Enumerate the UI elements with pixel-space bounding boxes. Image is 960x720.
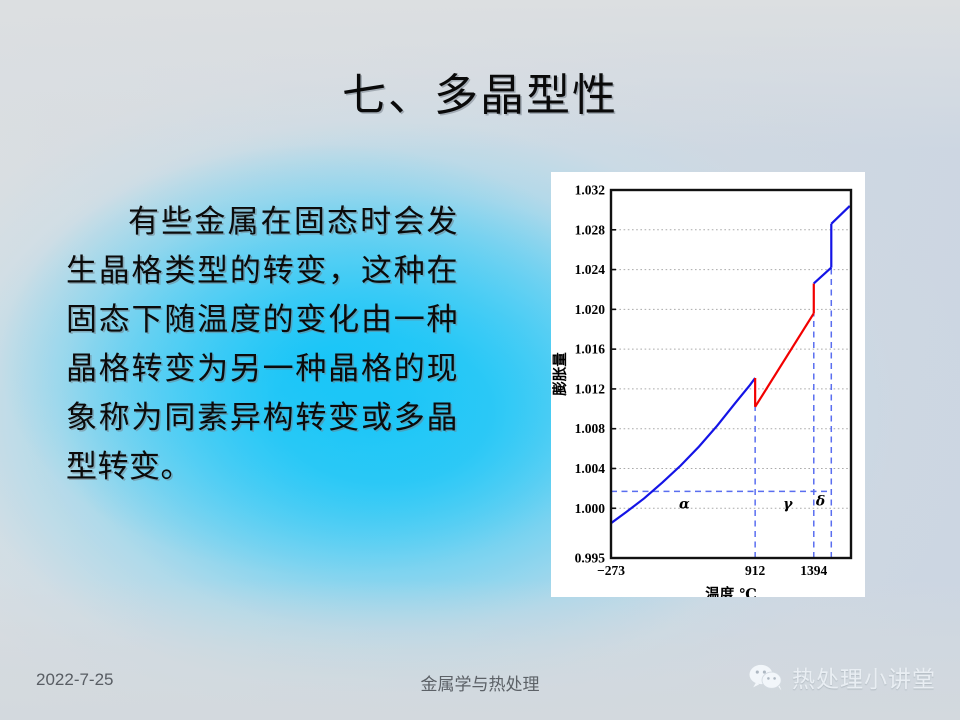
y-tick-label: 1.024 — [575, 262, 606, 277]
x-tick-label: 1394 — [800, 563, 827, 578]
x-tick-label: 912 — [745, 563, 766, 578]
watermark: 热处理小讲堂 — [749, 660, 936, 694]
slide-body-paragraph: 有些金属在固态时会发生晶格类型的转变，这种在固态下随温度的变化由一种晶格转变为另… — [66, 198, 458, 492]
watermark-label: 热处理小讲堂 — [792, 660, 936, 694]
y-tick-label: 1.016 — [575, 342, 606, 357]
y-tick-label: 1.008 — [575, 421, 606, 436]
phase-label-δ: δ — [815, 493, 825, 509]
x-tick-label: −273 — [597, 563, 625, 578]
chart-panel: 1.0321.0281.0241.0201.0161.0121.0081.004… — [551, 172, 865, 597]
phase-label-α: α — [679, 496, 690, 512]
background-bottom-fade — [0, 580, 960, 720]
y-axis-title: 膨胀量 — [551, 352, 569, 396]
phase-label-γ: γ — [783, 496, 793, 512]
wechat-icon — [749, 664, 783, 691]
x-axis-title: 温度 ℃ — [705, 585, 756, 597]
slide-title: 七、多晶型性 — [0, 72, 960, 120]
thermal-expansion-chart: 1.0321.0281.0241.0201.0161.0121.0081.004… — [551, 172, 865, 597]
y-tick-label: 1.028 — [575, 222, 606, 237]
y-tick-label: 1.020 — [575, 302, 606, 317]
y-tick-label: 1.000 — [575, 501, 606, 516]
y-tick-label: 1.032 — [575, 183, 606, 198]
y-tick-label: 1.004 — [575, 461, 606, 476]
y-tick-label: 1.012 — [575, 381, 606, 396]
